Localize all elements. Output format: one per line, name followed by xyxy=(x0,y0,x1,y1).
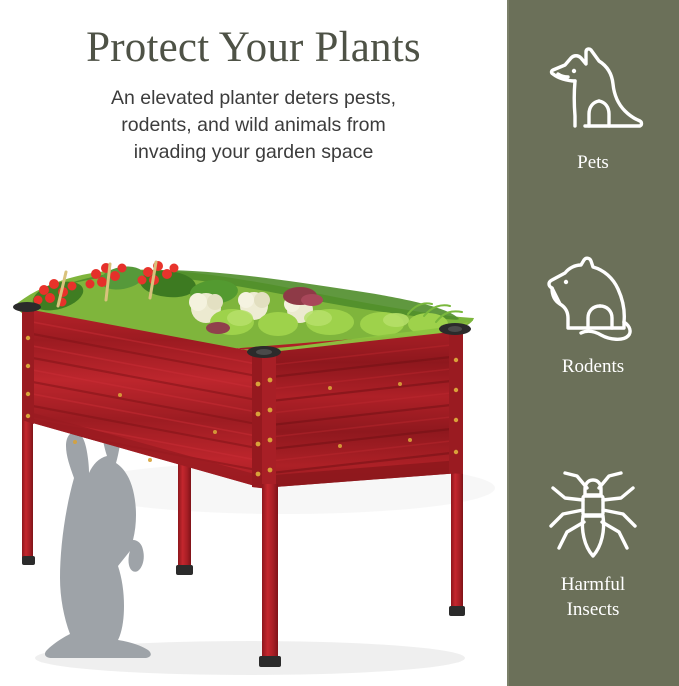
content-pane: Protect Your Plants An elevated planter … xyxy=(0,0,507,686)
subtitle: An elevated planter deters pests, rodent… xyxy=(52,85,455,166)
page-title: Protect Your Plants xyxy=(0,22,507,74)
planter-corner-post xyxy=(252,351,276,490)
subtitle-line-3: invading your garden space xyxy=(52,139,455,166)
feature-item-insects: Harmful Insects xyxy=(507,468,679,622)
feature-label-insects: Harmful Insects xyxy=(507,572,679,622)
mouse-icon xyxy=(538,256,648,344)
product-feature-image: Protect Your Plants An elevated planter … xyxy=(0,0,679,686)
feature-label-rodents: Rodents xyxy=(507,354,679,379)
feature-label-insects-line1: Harmful xyxy=(507,572,679,597)
feature-item-pets: Pets xyxy=(507,44,679,175)
planter-right-face xyxy=(262,331,460,488)
planter-corner-post-right xyxy=(449,329,463,474)
feature-label-insects-line2: Insects xyxy=(507,597,679,622)
subtitle-line-1: An elevated planter deters pests, xyxy=(52,85,455,112)
planter-leg-front-right xyxy=(259,484,281,667)
planter-product-image xyxy=(0,188,507,686)
planter-corner-post-left xyxy=(22,308,34,424)
feature-label-pets: Pets xyxy=(507,150,679,175)
dog-icon xyxy=(541,44,645,140)
feature-sidebar: Pets Rodents xyxy=(507,0,679,686)
planter-leg-front-left xyxy=(176,463,193,575)
subtitle-line-2: rodents, and wild animals from xyxy=(52,112,455,139)
feature-item-rodents: Rodents xyxy=(507,256,679,379)
insect-icon xyxy=(543,468,643,562)
